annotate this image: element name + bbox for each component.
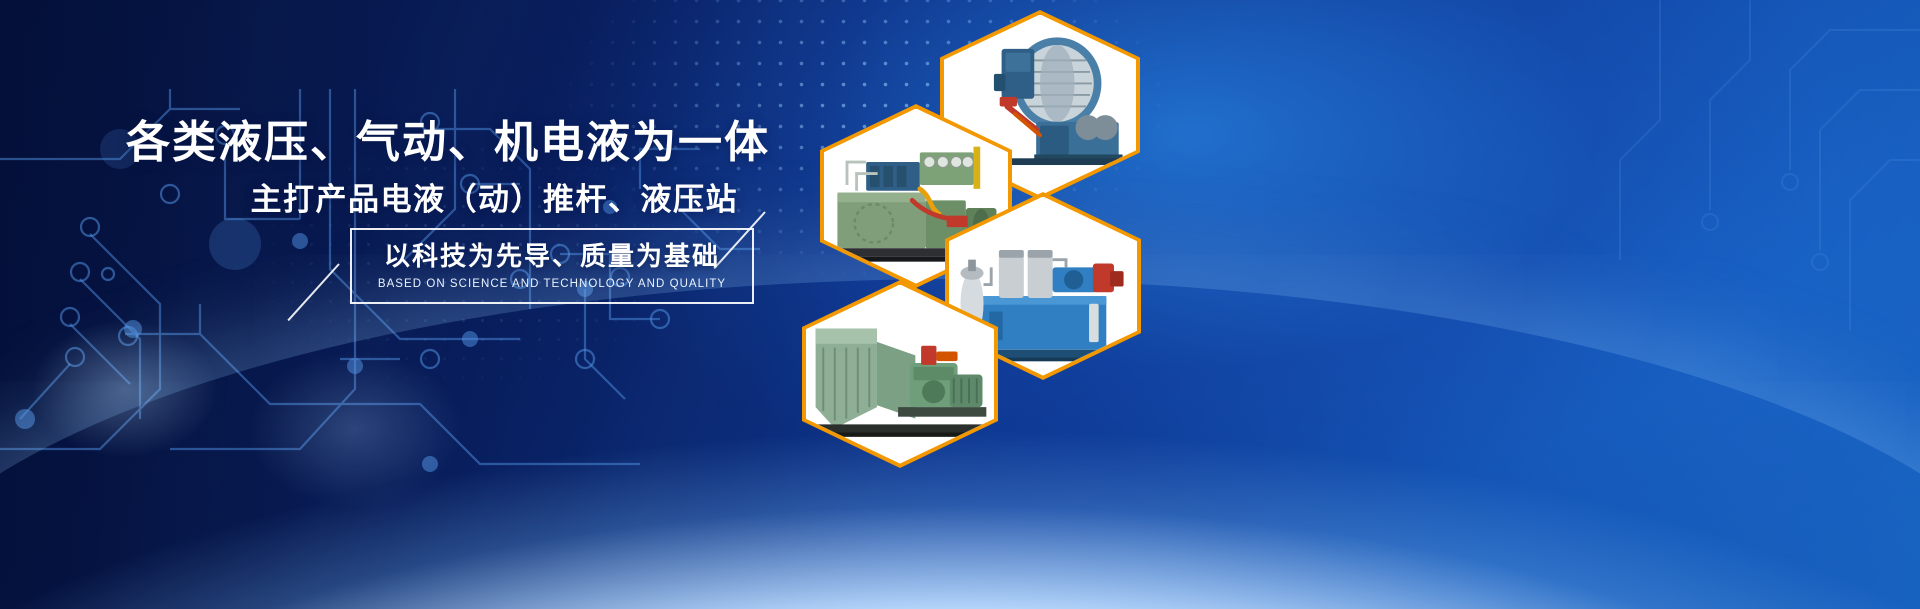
- glow-spot-left: [30, 319, 220, 459]
- hex-chute-gate-actuator[interactable]: [802, 280, 998, 468]
- hexagon-product-gallery: [780, 0, 1180, 609]
- slogan-box: 以科技为先导、质量为基础 BASED ON SCIENCE AND TECHNO…: [350, 228, 754, 304]
- hero-banner: 各类液压、气动、机电液为一体 主打产品电液（动）推杆、液压站 以科技为先导、质量…: [0, 0, 1920, 609]
- slogan-chinese: 以科技为先导、质量为基础: [384, 242, 720, 271]
- banner-subheadline: 主打产品电液（动）推杆、液压站: [0, 181, 800, 218]
- circuit-board-pattern-right: [1500, 0, 1920, 430]
- slogan-block: 以科技为先导、质量为基础 BASED ON SCIENCE AND TECHNO…: [326, 228, 796, 324]
- slogan-accent-line-left: [287, 263, 339, 321]
- hex-border: [802, 280, 998, 468]
- banner-headline: 各类液压、气动、机电液为一体: [0, 118, 800, 167]
- hex-photo-chute-gate-actuator: [806, 285, 994, 464]
- glow-spot-center: [245, 349, 465, 509]
- chute-gate-actuator-illustration: [806, 285, 994, 464]
- slogan-english: BASED ON SCIENCE AND TECHNOLOGY AND QUAL…: [378, 278, 726, 290]
- banner-copy: 各类液压、气动、机电液为一体 主打产品电液（动）推杆、液压站: [0, 118, 800, 218]
